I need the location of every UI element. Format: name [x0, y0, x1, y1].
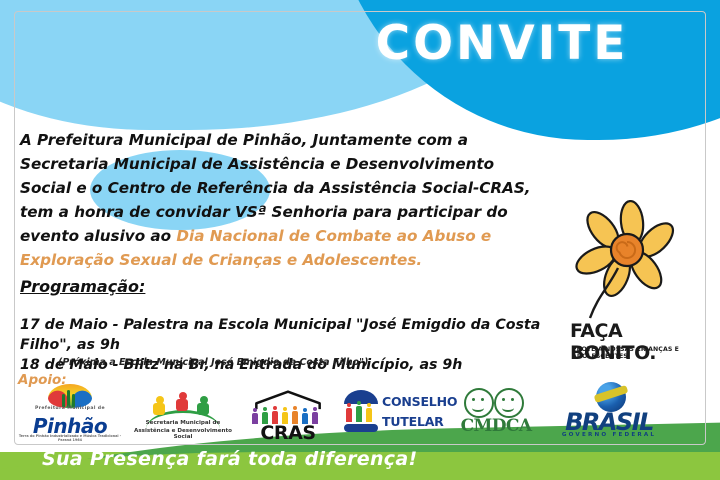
pinhao-top-line: Prefeitura Municipal de — [18, 406, 122, 411]
secretaria-line-1: Secretaria Municipal de — [132, 420, 234, 426]
conselho-arc-icon — [344, 390, 378, 404]
pinhao-emblem-icon — [48, 384, 92, 408]
logo-conselho-tutelar: CONSELHO TUTELAR — [342, 384, 454, 442]
cmdca-child-face-icon — [494, 388, 524, 418]
secretaria-figure-icon — [156, 396, 164, 404]
pinhao-bottom-line: Terra do Pinhão Industrializado e Música… — [18, 434, 122, 442]
faca-bonito-logo: FAÇA BONITO. PROTEJA NOSSAS CRIANÇAS E A… — [556, 196, 706, 371]
conselho-line-2: TUTELAR — [382, 414, 444, 429]
cmdca-word: CMDCA — [454, 416, 538, 436]
logo-pinhao: Prefeitura Municipal de Pinhão Terra do … — [18, 384, 122, 442]
cmdca-child-face-icon — [464, 388, 494, 418]
secretaria-line-2: Assistência e Desenvolvimento Social — [132, 428, 234, 440]
invitation-poster: CONVITE A Prefeitura Municipal de Pinhão… — [0, 0, 720, 480]
conselho-base-icon — [344, 424, 378, 432]
logo-secretaria: Secretaria Municipal de Assistência e De… — [132, 384, 234, 442]
logo-cmdca: CMDCA — [454, 384, 538, 442]
conselho-figure-icon — [366, 408, 372, 422]
schedule-note: (Próxima a Escola Municipal José Emigdio… — [58, 357, 368, 368]
conselho-figure-icon — [356, 406, 362, 422]
brasil-band-icon — [594, 385, 629, 403]
brasil-subtitle: GOVERNO FEDERAL — [548, 432, 670, 438]
closing-slogan: Sua Presença fará toda diferença! — [42, 448, 417, 470]
logo-brasil: BRASIL GOVERNO FEDERAL — [548, 384, 670, 442]
cras-word: CRAS — [242, 422, 334, 444]
program-heading: Programação: — [20, 277, 145, 296]
invitation-body-text: A Prefeitura Municipal de Pinhão, Juntam… — [20, 128, 550, 272]
support-logo-strip: Prefeitura Municipal de Pinhão Terra do … — [10, 384, 710, 442]
page-title: CONVITE — [352, 16, 652, 71]
flower-icon — [556, 196, 706, 326]
secretaria-figure-icon — [179, 392, 187, 400]
conselho-figure-icon — [346, 408, 352, 422]
logo-cras: CRAS — [242, 384, 334, 442]
conselho-line-1: CONSELHO — [382, 394, 457, 409]
secretaria-figure-icon — [200, 396, 208, 404]
schedule-item: 17 de Maio - Palestra na Escola Municipa… — [20, 315, 550, 355]
faca-bonito-tagline: PROTEJA NOSSAS CRIANÇAS E ADOLESCENTES. — [572, 346, 708, 360]
